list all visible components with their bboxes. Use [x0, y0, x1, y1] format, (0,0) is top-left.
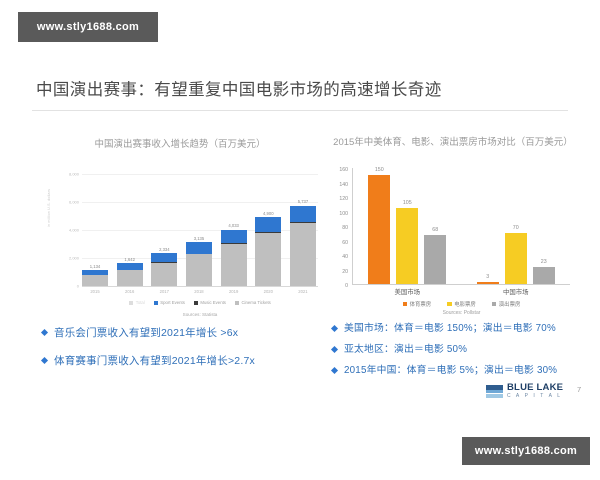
bullet-item: 音乐会门票收入有望到2021年增长 >6x — [42, 326, 312, 340]
left-chart-title: 中国演出赛事收入增长趋势（百万美元） — [40, 138, 320, 152]
left-chart-legend: TotalSport EventsMusic EventsCinema Tick… — [82, 300, 318, 305]
right-chart-legend-label: 电影票房 — [454, 300, 476, 308]
logo-subtitle: C A P I T A L — [507, 394, 563, 399]
left-chart-legend-label: Total — [136, 300, 145, 305]
left-chart-bar-segment — [117, 263, 143, 270]
left-chart-y-tick: 2,000 — [55, 256, 79, 261]
left-chart-x-label: 2020 — [255, 289, 281, 294]
right-chart-group: 37023 — [462, 168, 571, 284]
watermark-top: www.stly1688.com — [18, 12, 158, 42]
title-divider — [32, 110, 568, 111]
bullet-item: 美国市场：体育＝电影 150%；演出＝电影 70% — [332, 322, 582, 335]
left-chart-bar-segment — [255, 217, 281, 231]
left-chart-plot: 1,1341,6422,3343,1354,0334,9005,737 — [82, 174, 316, 286]
right-chart-legend-label: 体育票房 — [410, 300, 432, 308]
right-chart-y-tick: 20 — [330, 269, 348, 275]
left-chart-legend-label: Music Events — [200, 300, 226, 305]
page-title: 中国演出赛事：有望重复中国电影市场的高速增长奇迹 — [36, 76, 566, 100]
bullet-text: 美国市场：体育＝电影 150%；演出＝电影 70% — [344, 322, 556, 335]
bullet-item: 2015年中国：体育＝电影 5%；演出＝电影 30% — [332, 364, 582, 377]
bullet-diamond-icon — [331, 325, 338, 332]
left-chart-bar-value: 5,737 — [298, 199, 308, 204]
left-chart-x-label: 2017 — [151, 289, 177, 294]
right-chart: 020406080100120140160 1501056837023 美国市场… — [330, 166, 570, 316]
right-chart-bar[interactable]: 150 — [368, 175, 390, 284]
right-chart-y-axis: 020406080100120140160 — [330, 168, 350, 284]
legend-swatch-icon — [403, 302, 408, 307]
left-chart-bar-value: 1,642 — [124, 257, 134, 262]
left-chart-bar[interactable]: 1,642 — [117, 174, 143, 286]
bullet-diamond-icon — [331, 346, 338, 353]
right-chart-x-label: 中国市场 — [462, 287, 571, 296]
legend-swatch-icon — [194, 301, 198, 305]
left-chart-legend-label: Sport Events — [160, 300, 185, 305]
left-chart-x-label: 2019 — [221, 289, 247, 294]
right-chart-y-tick: 100 — [330, 211, 348, 217]
right-chart-group: 15010568 — [353, 168, 462, 284]
left-chart-bar-value: 1,134 — [90, 264, 100, 269]
legend-swatch-icon — [492, 302, 497, 307]
page-number: 7 — [577, 385, 581, 394]
right-chart-legend-item[interactable]: 电影票房 — [447, 300, 476, 308]
left-chart-bar-segment — [290, 223, 316, 286]
right-chart-y-tick: 120 — [330, 196, 348, 202]
left-chart-y-tick: 6,000 — [55, 200, 79, 205]
left-chart-legend-label: Cinema Tickets — [241, 300, 270, 305]
right-chart-bar-value: 68 — [432, 227, 438, 233]
right-chart-y-tick: 80 — [330, 225, 348, 231]
left-chart-bar[interactable]: 4,033 — [221, 174, 247, 286]
left-chart-bar-value: 2,334 — [159, 247, 169, 252]
left-chart-baseline — [82, 286, 318, 287]
bullet-text: 2015年中国：体育＝电影 5%；演出＝电影 30% — [344, 364, 557, 377]
blue-lake-logo-icon — [486, 385, 503, 398]
left-chart-source: Sources: Statista — [82, 312, 318, 317]
right-chart-y-tick: 140 — [330, 182, 348, 188]
left-chart-bar[interactable]: 2,334 — [151, 174, 177, 286]
right-chart-y-tick: 0 — [330, 283, 348, 289]
right-chart-x-axis: 美国市场中国市场 — [353, 287, 570, 296]
left-chart-y-tick: 4,000 — [55, 228, 79, 233]
right-chart-bar[interactable]: 105 — [396, 208, 418, 284]
right-chart-bar[interactable]: 68 — [424, 235, 446, 284]
right-chart-legend: 体育票房电影票房演出票房 — [353, 300, 570, 308]
left-chart-bar-segment — [151, 263, 177, 286]
right-chart-y-tick: 60 — [330, 240, 348, 246]
right-chart-source: Sources: Pollstar — [353, 310, 570, 316]
left-chart-bar-segment — [151, 253, 177, 262]
right-bullet-list: 美国市场：体育＝电影 150%；演出＝电影 70%亚太地区：演出＝电影 50%2… — [332, 322, 582, 386]
left-chart-bar[interactable]: 1,134 — [82, 174, 108, 286]
left-chart-x-axis: 2015201620172018201920202021 — [82, 289, 316, 294]
legend-swatch-icon — [235, 301, 239, 305]
bullet-text: 音乐会门票收入有望到2021年增长 >6x — [54, 326, 238, 340]
bullet-item: 体育赛事门票收入有望到2021年增长>2.7x — [42, 354, 312, 368]
left-chart-bar-segment — [290, 206, 316, 223]
left-chart-bar-segment — [117, 270, 143, 286]
left-chart-x-label: 2018 — [186, 289, 212, 294]
left-chart-bar-segment — [186, 242, 212, 254]
left-chart-bar-value: 4,033 — [228, 223, 238, 228]
left-chart-bar[interactable]: 3,135 — [186, 174, 212, 286]
left-chart-legend-item[interactable]: Total — [129, 300, 145, 305]
left-chart-ylabel: in million U.S. dollars — [47, 217, 51, 227]
right-chart-y-tick: 160 — [330, 167, 348, 173]
bullet-item: 亚太地区：演出＝电影 50% — [332, 343, 582, 356]
right-chart-legend-label: 演出票房 — [499, 300, 521, 308]
right-chart-bar-value: 105 — [403, 200, 412, 206]
logo-name: BLUE LAKE — [507, 383, 563, 393]
left-chart-bar-segment — [221, 230, 247, 244]
left-chart-x-label: 2015 — [82, 289, 108, 294]
legend-swatch-icon — [129, 301, 133, 305]
right-chart-bar[interactable]: 70 — [505, 233, 527, 284]
watermark-bottom: www.stly1688.com — [462, 437, 590, 465]
left-chart-bar-segment — [82, 275, 108, 286]
left-chart-legend-item[interactable]: Sport Events — [154, 300, 185, 305]
right-chart-title: 2015年中美体育、电影、演出票房市场对比（百万美元） — [328, 136, 578, 150]
right-chart-bar[interactable]: 3 — [477, 282, 499, 284]
right-chart-bar[interactable]: 23 — [533, 267, 555, 284]
left-chart-x-label: 2016 — [117, 289, 143, 294]
right-chart-bar-value: 23 — [541, 259, 547, 265]
left-chart-bar-segment — [255, 233, 281, 286]
right-chart-bar-value: 3 — [486, 274, 489, 280]
left-bullet-list: 音乐会门票收入有望到2021年增长 >6x体育赛事门票收入有望到2021年增长>… — [42, 326, 312, 382]
right-chart-bar-value: 70 — [513, 225, 519, 231]
logo-text: BLUE LAKE C A P I T A L — [507, 383, 563, 399]
left-chart-bar-segment — [186, 254, 212, 286]
bullet-text: 体育赛事门票收入有望到2021年增长>2.7x — [54, 354, 255, 368]
left-chart-bar[interactable]: 5,737 — [290, 174, 316, 286]
left-chart-y-tick: 8,000 — [55, 172, 79, 177]
legend-swatch-icon — [154, 301, 158, 305]
right-chart-plot: 1501056837023 — [353, 168, 570, 284]
brand-logo: BLUE LAKE C A P I T A L — [486, 383, 563, 399]
left-chart-bar[interactable]: 4,900 — [255, 174, 281, 286]
left-chart-x-label: 2021 — [290, 289, 316, 294]
bullet-diamond-icon — [331, 367, 338, 374]
right-chart-y-tick: 40 — [330, 254, 348, 260]
left-chart-bar-value: 4,900 — [263, 211, 273, 216]
left-chart: in million U.S. dollars 02,0004,0006,000… — [46, 168, 318, 314]
left-chart-legend-item[interactable]: Music Events — [194, 300, 226, 305]
left-chart-y-axis: 02,0004,0006,0008,000 — [56, 174, 82, 286]
left-chart-y-tick: 0 — [55, 284, 79, 289]
right-chart-legend-item[interactable]: 体育票房 — [403, 300, 432, 308]
left-chart-bar-value: 3,135 — [194, 236, 204, 241]
right-chart-baseline — [352, 284, 570, 285]
bullet-diamond-icon — [41, 329, 48, 336]
bullet-diamond-icon — [41, 357, 48, 364]
bullet-text: 亚太地区：演出＝电影 50% — [344, 343, 467, 356]
right-chart-bar-value: 150 — [375, 167, 384, 173]
left-chart-bar-segment — [221, 244, 247, 286]
right-chart-x-label: 美国市场 — [353, 287, 462, 296]
left-chart-legend-item[interactable]: Cinema Tickets — [235, 300, 271, 305]
right-chart-legend-item[interactable]: 演出票房 — [492, 300, 521, 308]
slide-canvas: www.stly1688.com 中国演出赛事：有望重复中国电影市场的高速增长奇… — [0, 0, 600, 480]
legend-swatch-icon — [447, 302, 452, 307]
